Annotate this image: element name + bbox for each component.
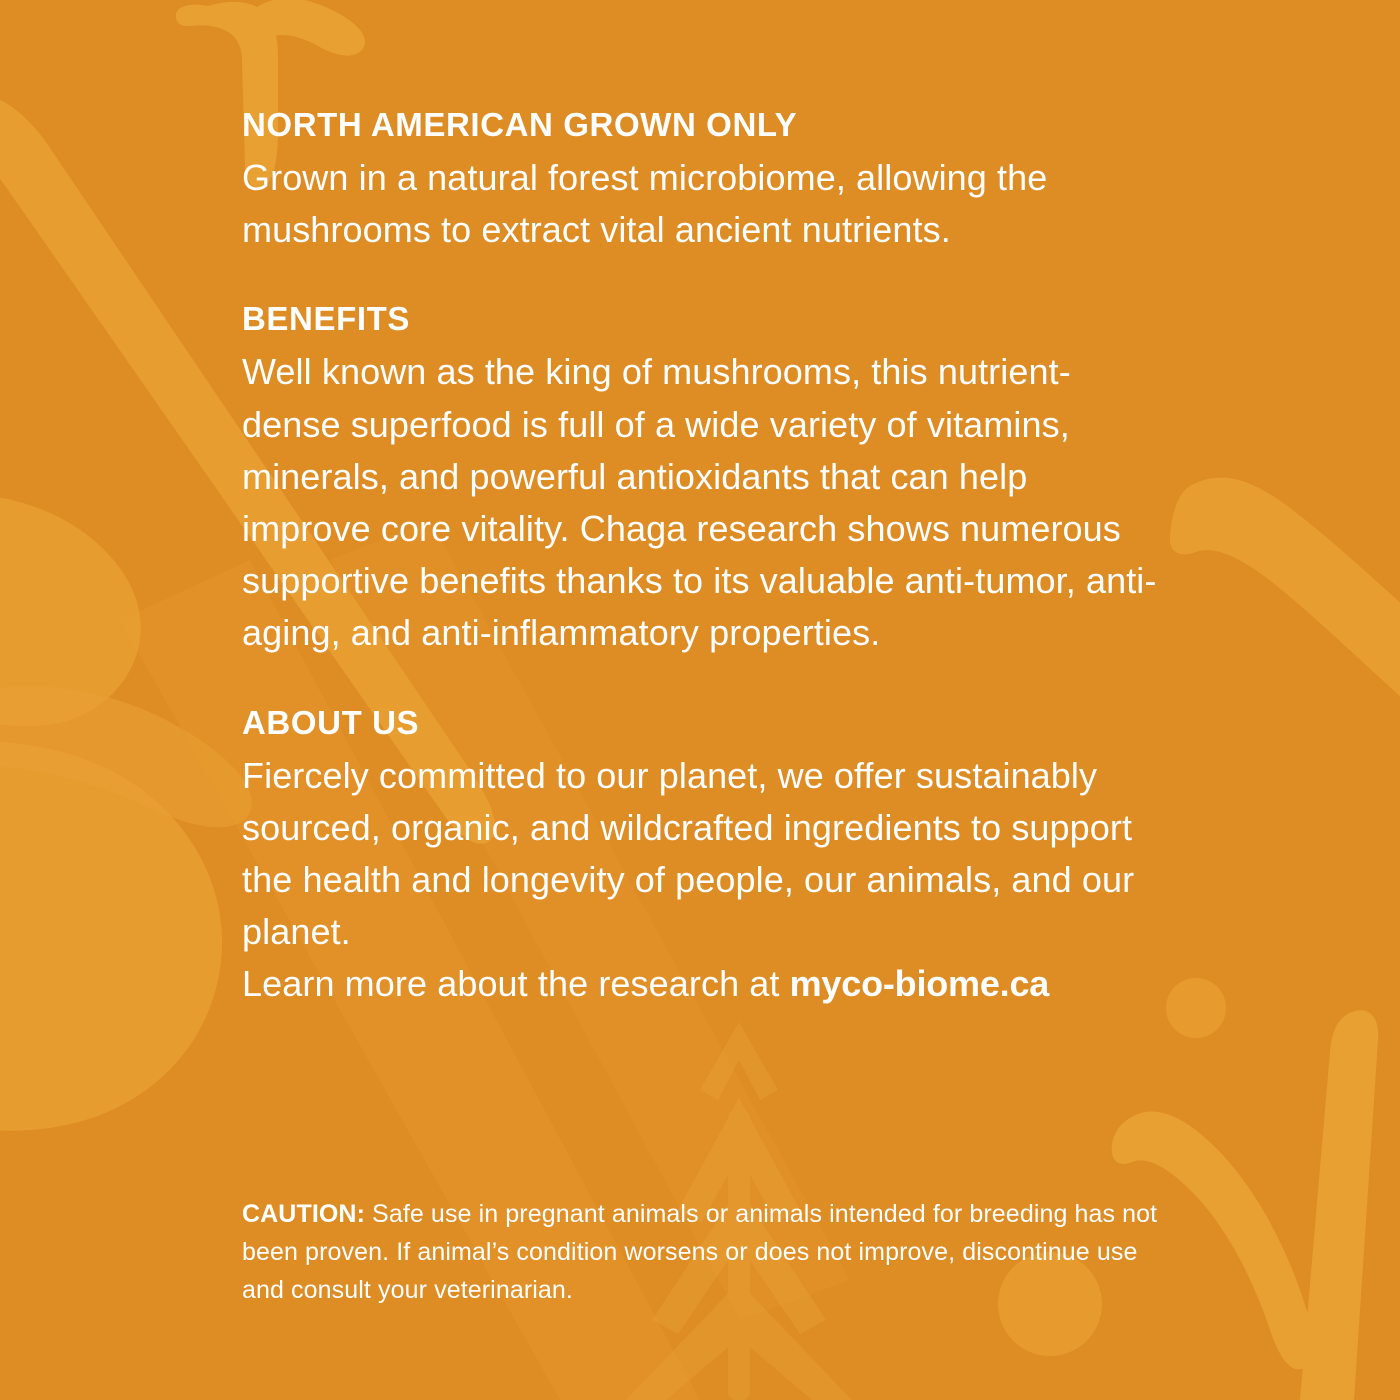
organic-blob-left-lower-icon	[0, 741, 222, 1131]
branch-fork-top-arm-icon	[246, 0, 365, 56]
section-heading-about-us: ABOUT US	[242, 706, 1162, 739]
caution-statement: CAUTION: Safe use in pregnant animals or…	[242, 1195, 1162, 1309]
section-body-about-us: Fiercely committed to our planet, we off…	[242, 750, 1162, 959]
caution-text: Safe use in pregnant animals or animals …	[242, 1200, 1157, 1304]
section-benefits: BENEFITS Well known as the king of mushr…	[242, 302, 1162, 659]
section-heading-north-american-grown-only: NORTH AMERICAN GROWN ONLY	[242, 108, 1162, 141]
section-heading-benefits: BENEFITS	[242, 302, 1162, 335]
branch-bottom-right-icon	[1300, 1010, 1378, 1400]
section-body-benefits: Well known as the king of mushrooms, thi…	[242, 346, 1162, 659]
product-label-panel: NORTH AMERICAN GROWN ONLY Grown in a nat…	[0, 0, 1400, 1400]
section-north-american-grown-only: NORTH AMERICAN GROWN ONLY Grown in a nat…	[242, 108, 1162, 256]
caution-label: CAUTION:	[242, 1200, 365, 1228]
label-content: NORTH AMERICAN GROWN ONLY Grown in a nat…	[242, 108, 1162, 1010]
blob-connector-icon	[0, 686, 252, 827]
section-body-north-american-grown-only: Grown in a natural forest microbiome, al…	[242, 152, 1162, 256]
learn-more-prefix: Learn more about the research at	[242, 963, 790, 1004]
dot-small-right-icon	[1166, 978, 1226, 1038]
organic-blob-left-icon	[0, 492, 141, 726]
website-link[interactable]: myco-biome.ca	[790, 963, 1050, 1004]
learn-more-line: Learn more about the research at myco-bi…	[242, 958, 1162, 1010]
section-about-us: ABOUT US Fiercely committed to our plane…	[242, 706, 1162, 959]
branch-right-icon	[1170, 477, 1400, 700]
